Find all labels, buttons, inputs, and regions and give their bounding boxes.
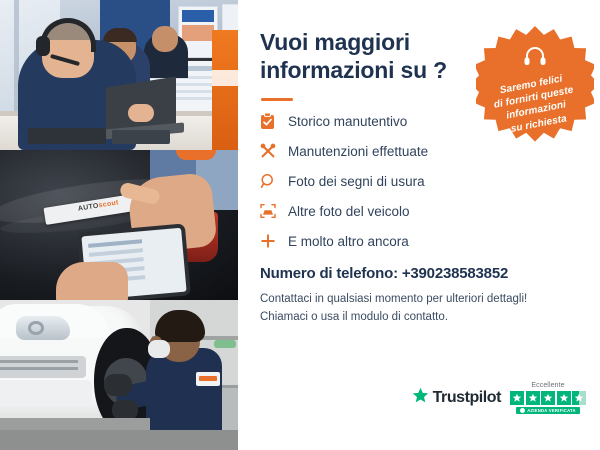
safety-cone [212, 30, 238, 150]
list-item-label: Storico manutentivo [288, 114, 407, 129]
list-item-label: Manutenzioni effettuate [288, 144, 428, 159]
contact-instructions: Contattaci in qualsiasi momento per ulte… [260, 291, 578, 327]
list-item: Foto dei segni di usura [260, 171, 578, 191]
plus-icon [260, 231, 282, 251]
verified-check-icon [520, 408, 525, 413]
trustpilot-star-icon [412, 387, 429, 409]
page-title: Vuoi maggiori informazioni su ? [260, 28, 475, 84]
trustpilot-rating-label: Eccellente [531, 382, 564, 389]
clipboard-check-icon [260, 111, 282, 131]
mechanic-hair [155, 310, 205, 342]
trustpilot-rating-block: Eccellente [510, 382, 586, 414]
mechanic-glove-lower [112, 400, 138, 420]
list-item-label: E molto altro ancora [288, 234, 409, 249]
garage-tool-green [214, 340, 236, 348]
list-item: Altre foto del veicolo [260, 201, 578, 221]
content-panel: Vuoi maggiori informazioni su ? Storico … [238, 0, 600, 450]
contact-instructions-line-2: Chiamaci o usa il modulo di contatto. [260, 309, 578, 327]
garage-floor [0, 430, 238, 450]
contact-instructions-line-1: Contattaci in qualsiasi momento per ulte… [260, 291, 578, 309]
trustpilot-stars [510, 391, 586, 405]
trustpilot-logo: Trustpilot [412, 387, 501, 409]
list-item-label: Foto dei segni di usura [288, 174, 425, 189]
trustpilot-widget[interactable]: Trustpilot Eccellente [412, 382, 586, 414]
star-filled-icon [557, 391, 571, 405]
mechanic-uniform-logo [196, 372, 220, 386]
keyboard-secondary [112, 130, 170, 144]
star-filled-icon [526, 391, 540, 405]
keyboard [28, 128, 106, 144]
accent-divider [261, 98, 293, 101]
mechanic-face-mask [148, 340, 170, 358]
verified-business-badge: AZIENDA VERIFICATA [516, 407, 580, 414]
star-half-icon [572, 391, 586, 405]
callout-badge: Saremo felici di fornirti queste informa… [476, 26, 594, 144]
mechanic-glove-upper [104, 374, 132, 396]
inspector-hand-lower [56, 262, 128, 300]
car-scan-icon [260, 201, 282, 221]
phone-number[interactable]: Numero di telefono: +390238583852 [260, 265, 578, 282]
orange-accent-shape [176, 150, 216, 160]
car-bumper [0, 380, 92, 406]
mechanic-tire-photo [0, 300, 238, 450]
headset-icon [523, 46, 547, 71]
list-item: Manutenzioni effettuate [260, 141, 578, 161]
wrench-screwdriver-icon [260, 141, 282, 161]
car-headlight [16, 316, 70, 340]
headline-line-2: informazioni su ? [260, 57, 447, 83]
headline-line-1: Vuoi maggiori [260, 29, 410, 55]
advertisement-banner: AUTOscout [0, 0, 600, 450]
magnifier-icon [260, 171, 282, 191]
verified-business-label: AZIENDA VERIFICATA [527, 408, 576, 413]
list-item: E molto altro ancora [260, 231, 578, 251]
vehicle-inspection-photo: AUTOscout [0, 150, 238, 300]
list-item-label: Altre foto del veicolo [288, 204, 410, 219]
star-filled-icon [541, 391, 555, 405]
star-filled-icon [510, 391, 524, 405]
photo-column: AUTOscout [0, 0, 238, 450]
call-center-agent-photo [0, 0, 238, 150]
trustpilot-wordmark: Trustpilot [433, 389, 501, 407]
background-person-two-head [152, 26, 178, 52]
headset-earcup [36, 36, 50, 56]
agent-hand [128, 104, 154, 122]
car-grille [0, 356, 86, 378]
